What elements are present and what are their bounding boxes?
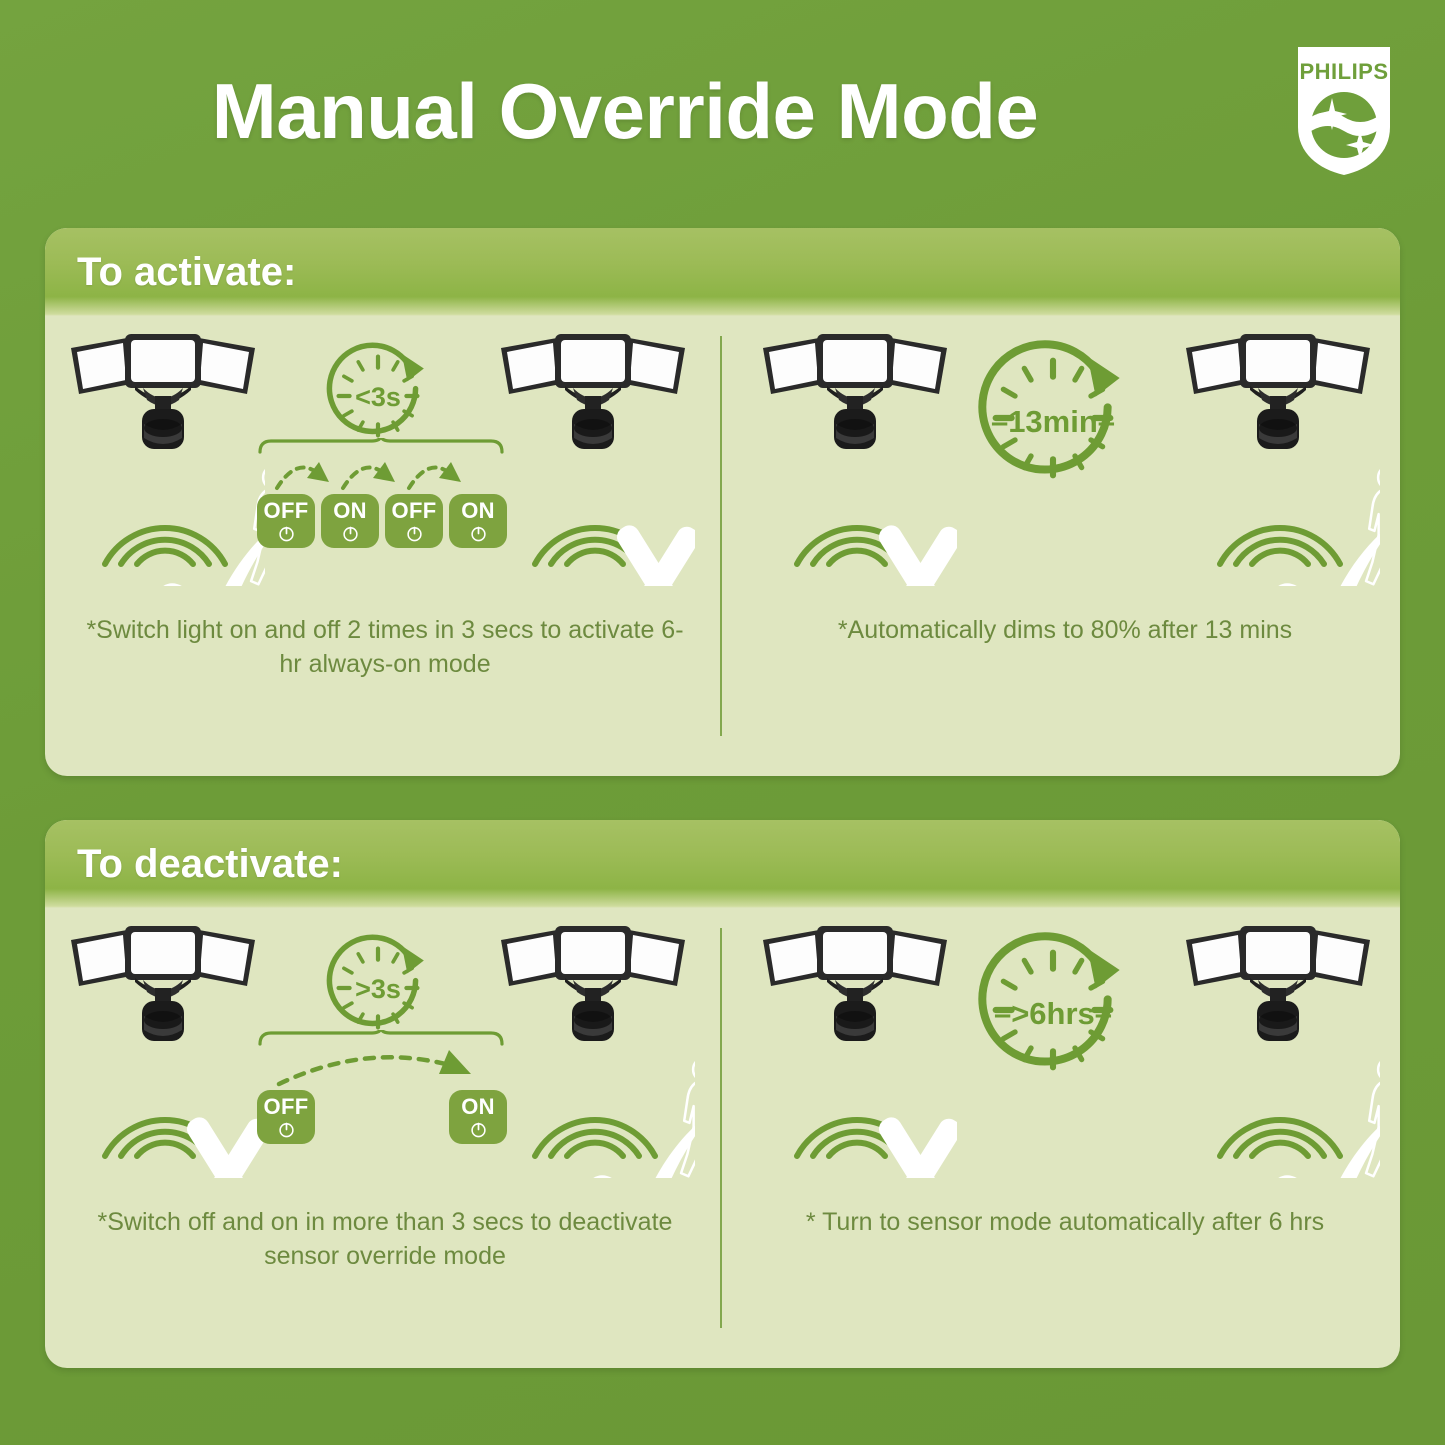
caption-deactivate-right: * Turn to sensor mode automatically afte… — [745, 1206, 1385, 1240]
sensor-waves-active-icon — [1180, 456, 1380, 586]
security-light-fixture-icon — [65, 324, 261, 464]
switch-sequence-activate: OFF ON OFF ON — [257, 494, 507, 552]
power-icon — [406, 525, 423, 542]
panel-activate: To activate: — [45, 228, 1400, 776]
security-light-fixture-icon — [495, 916, 691, 1056]
power-icon — [342, 525, 359, 542]
security-light-fixture-icon — [1180, 916, 1376, 1056]
switch-button-label: ON — [333, 500, 367, 522]
clock-label-activate-left: <3s — [323, 379, 433, 415]
sensor-waves-inactive-icon — [65, 1048, 265, 1178]
security-light-fixture-icon — [65, 916, 261, 1056]
power-icon — [470, 1121, 487, 1138]
panel-deactivate-header: To deactivate: — [45, 820, 1400, 908]
panel-activate-body: <3s — [45, 316, 1400, 776]
clock-label-activate-right: –13min– — [973, 401, 1133, 443]
switch-button-on-1[interactable]: ON — [321, 494, 379, 548]
power-icon — [278, 1121, 295, 1138]
panel-deactivate-body: >3s OFF ON — [45, 908, 1400, 1368]
switch-sequence-deactivate: OFF ON — [257, 1090, 507, 1148]
sequence-dashed-arrow — [257, 1040, 505, 1092]
panel-activate-header: To activate: — [45, 228, 1400, 316]
sequence-dashed-arrows — [257, 448, 505, 496]
security-light-fixture-icon — [1180, 324, 1376, 464]
svg-text:PHILIPS: PHILIPS — [1299, 59, 1388, 84]
security-light-fixture-icon — [757, 916, 953, 1056]
power-icon — [470, 525, 487, 542]
panel-divider — [720, 928, 722, 1328]
sensor-waves-active-icon — [1180, 1048, 1380, 1178]
switch-button-label: OFF — [264, 500, 309, 522]
philips-shield-logo-icon: PHILIPS — [1294, 43, 1394, 178]
sensor-waves-active-icon — [65, 456, 265, 586]
sensor-waves-inactive-icon — [757, 1048, 957, 1178]
switch-button-label: OFF — [392, 500, 437, 522]
switch-button-off-2[interactable]: OFF — [385, 494, 443, 548]
panel-deactivate-header-label: To deactivate: — [77, 842, 343, 887]
security-light-fixture-icon — [495, 324, 691, 464]
caption-deactivate-left: *Switch off and on in more than 3 secs t… — [80, 1206, 690, 1274]
switch-button-label: OFF — [264, 1096, 309, 1118]
clock-label-deactivate-right: –>6hrs– — [973, 993, 1133, 1035]
sensor-waves-inactive-icon — [757, 456, 957, 586]
page-title: Manual Override Mode — [0, 72, 1250, 150]
switch-button-off-1[interactable]: OFF — [257, 494, 315, 548]
security-light-fixture-icon — [757, 324, 953, 464]
sensor-waves-inactive-icon — [495, 456, 695, 586]
switch-button-off-1[interactable]: OFF — [257, 1090, 315, 1144]
caption-activate-left: *Switch light on and off 2 times in 3 se… — [80, 614, 690, 682]
sensor-waves-active-icon — [495, 1048, 695, 1178]
switch-button-label: ON — [461, 500, 495, 522]
caption-activate-right: *Automatically dims to 80% after 13 mins — [745, 614, 1385, 648]
panel-deactivate: To deactivate: >3 — [45, 820, 1400, 1368]
switch-button-label: ON — [461, 1096, 495, 1118]
panel-activate-header-label: To activate: — [77, 250, 296, 295]
infographic-page: Manual Override Mode PHILIPS To activate… — [0, 0, 1445, 1445]
panel-divider — [720, 336, 722, 736]
clock-label-deactivate-left: >3s — [323, 971, 433, 1007]
power-icon — [278, 525, 295, 542]
